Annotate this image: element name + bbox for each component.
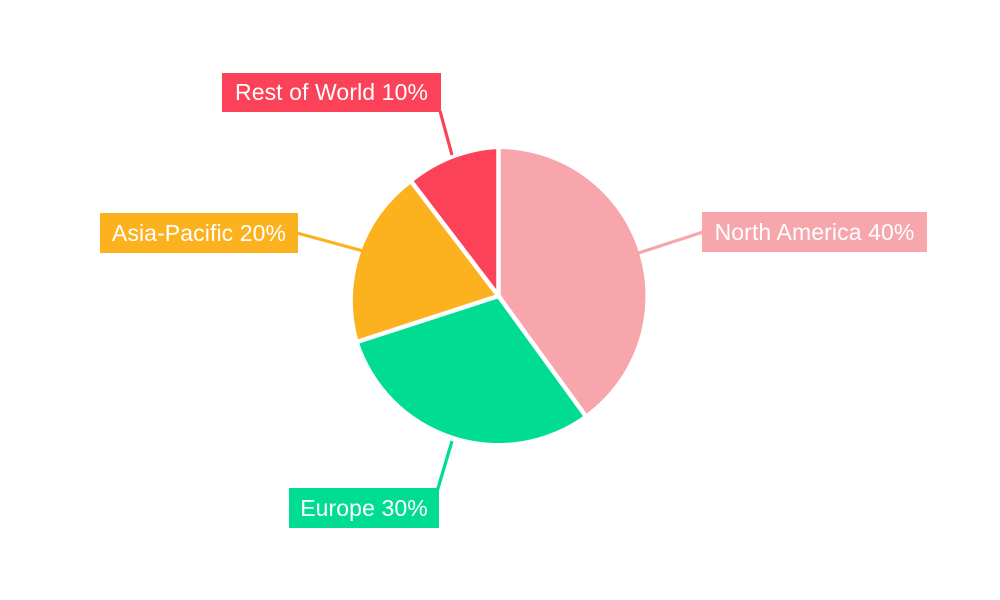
- leader-line-rest-of-world: [440, 111, 452, 155]
- pie-label-north-america[interactable]: North America 40%: [702, 212, 927, 252]
- leader-line-europe: [438, 441, 453, 490]
- pie-label-asia-pacific[interactable]: Asia-Pacific 20%: [100, 213, 298, 253]
- pie-chart-graphic: [0, 0, 1000, 600]
- leader-line-north-america: [637, 232, 703, 254]
- pie-chart-canvas: North America 40% Europe 30% Asia-Pacifi…: [0, 0, 1000, 600]
- pie-label-europe[interactable]: Europe 30%: [289, 488, 439, 528]
- pie-label-rest-of-world[interactable]: Rest of World 10%: [222, 73, 441, 112]
- pie-wedges: [353, 149, 646, 443]
- leader-line-asia-pacific: [297, 233, 365, 252]
